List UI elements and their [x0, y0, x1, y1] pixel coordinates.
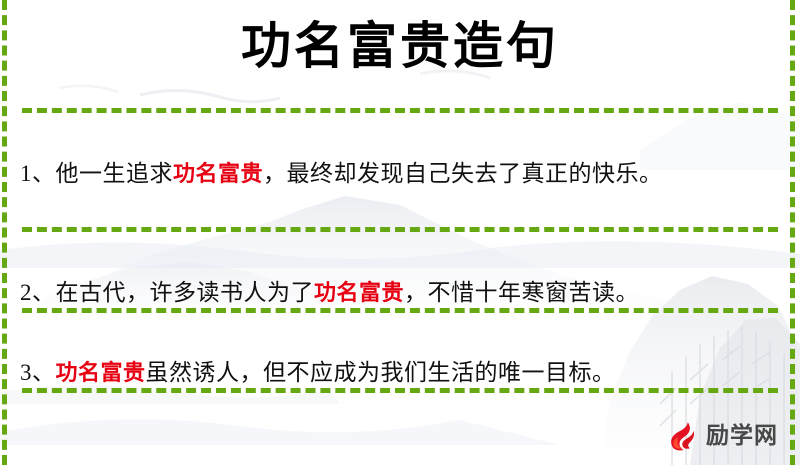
sentence-text-before: 在古代，许多读书人为了	[56, 280, 315, 305]
sentence-text-after: ，不惜十年寒窗苦读。	[404, 280, 639, 305]
keyword-highlight: 功名富贵	[314, 281, 404, 306]
watermark-logo: 励学网	[666, 419, 778, 453]
brand-name: 励学网	[706, 425, 778, 448]
flame-swirl-icon	[666, 419, 700, 453]
keyword-highlight: 功名富贵	[56, 361, 146, 386]
worksheet-page: 功名富贵造句 1、他一生追求功名富贵，最终却发现自己失去了真正的快乐。 2、在古…	[0, 0, 800, 465]
sentence-number: 2、	[20, 280, 56, 305]
sentence-list: 1、他一生追求功名富贵，最终却发现自己失去了真正的快乐。 2、在古代，许多读书人…	[0, 0, 800, 465]
list-item: 3、功名富贵虽然诱人，但不应成为我们生活的唯一目标。	[20, 352, 782, 395]
sentence-number: 3、	[20, 360, 56, 385]
sentence-text-after: 虽然诱人，但不应成为我们生活的唯一目标。	[146, 360, 616, 385]
list-item: 1、他一生追求功名富贵，最终却发现自己失去了真正的快乐。	[20, 153, 782, 196]
sentence-text-before: 他一生追求	[56, 161, 174, 186]
sentence-number: 1、	[20, 161, 56, 186]
list-item: 2、在古代，许多读书人为了功名富贵，不惜十年寒窗苦读。	[20, 272, 782, 315]
sentence-text-after: ，最终却发现自己失去了真正的快乐。	[263, 161, 663, 186]
keyword-highlight: 功名富贵	[173, 162, 263, 187]
